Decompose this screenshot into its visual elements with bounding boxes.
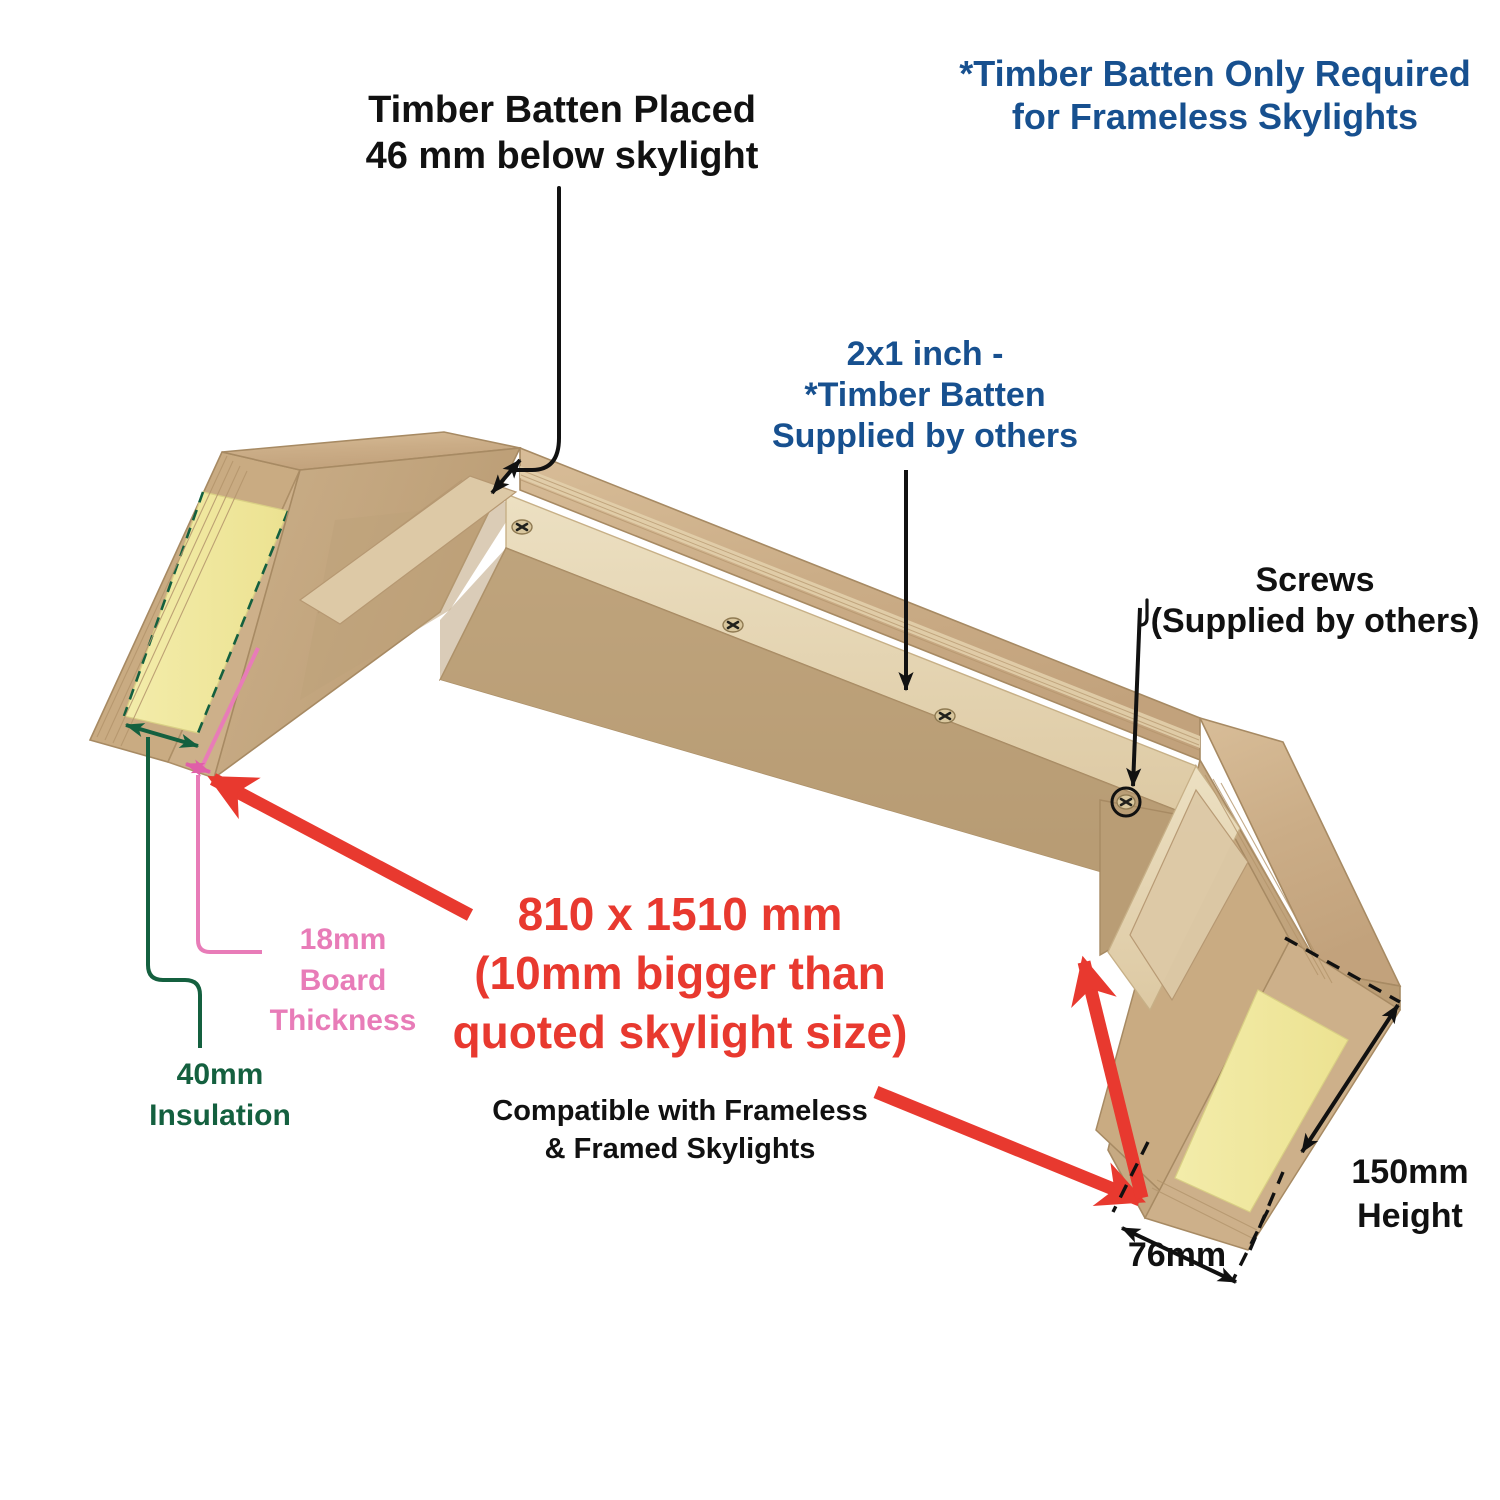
label-timber-batten-placed: Timber Batten Placed 46 mm below skyligh… <box>322 88 802 179</box>
label-opening-size: 810 x 1510 mm (10mm bigger than quoted s… <box>415 885 945 1062</box>
label-compatibility: Compatible with Frameless & Framed Skyli… <box>470 1093 890 1168</box>
label-insulation: 40mm Insulation <box>140 1055 300 1136</box>
screw-3 <box>935 709 955 723</box>
skylight-kerb-illustration <box>0 0 1500 1500</box>
label-depth-dimension: 76mm <box>1112 1235 1242 1276</box>
screw-2 <box>723 618 743 632</box>
green-leader <box>148 737 200 1048</box>
screw-1 <box>512 520 532 534</box>
label-board-thickness: 18mm Board Thickness <box>268 920 418 1042</box>
insulation-dimension <box>126 725 200 1048</box>
label-height-dimension: 150mm Height <box>1330 1150 1490 1238</box>
label-frameless-requirement-note: *Timber Batten Only Required for Framele… <box>930 52 1500 138</box>
diagram-canvas: Timber Batten Placed 46 mm below skyligh… <box>0 0 1500 1500</box>
red-arrow-to-bottom-right <box>876 1092 1140 1200</box>
leader-batten-placed <box>512 188 559 470</box>
label-batten-specification: 2x1 inch - *Timber Batten Supplied by ot… <box>745 334 1105 456</box>
label-screws: Screws (Supplied by others) <box>1130 560 1500 642</box>
